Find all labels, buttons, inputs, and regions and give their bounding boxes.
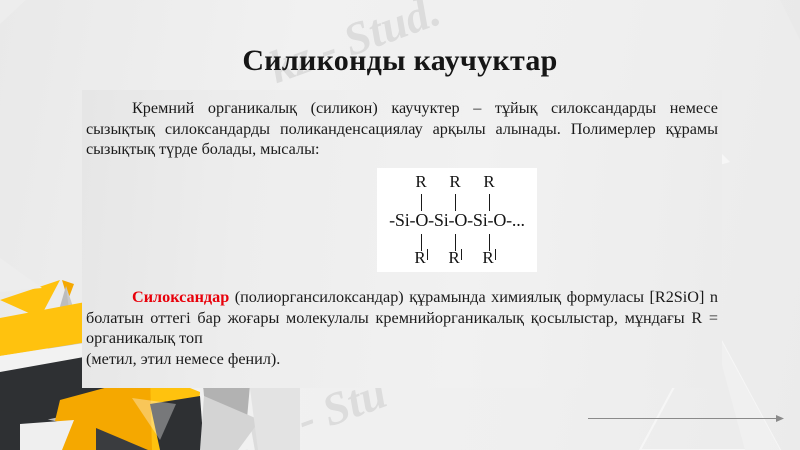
formula-bottom-r-1: R — [404, 248, 438, 267]
formula-top-substituents: R R R — [377, 172, 537, 191]
keyword-siloxanes: Силоксандар — [132, 288, 229, 306]
page-title: Силиконды каучуктар — [0, 44, 800, 78]
paragraph-intro: Кремний органикалық (силикон) каучуктер … — [86, 98, 718, 160]
chemical-formula-box: R R R -Si-O-Si-O-Si-O-... R R R — [377, 168, 537, 272]
formula-backbone-chain: -Si-O-Si-O-Si-O-... — [377, 210, 537, 231]
formula-top-r-3: R — [472, 172, 506, 191]
formula-bottom-r-2: R — [438, 248, 472, 267]
formula-top-bonds — [377, 194, 537, 211]
slide-canvas: kz - Stud. Stud.kz - Stud Stud.kz - Stu — [0, 0, 800, 450]
bond-icon — [472, 194, 506, 211]
bond-icon — [404, 194, 438, 211]
formula-top-r-1: R — [404, 172, 438, 191]
paragraph-intro-text: Кремний органикалық (силикон) каучуктер … — [86, 99, 718, 158]
formula-top-r-2: R — [438, 172, 472, 191]
formula-bottom-substituents: R R R — [377, 248, 537, 267]
bottom-arrow-icon — [588, 410, 784, 419]
bond-icon — [438, 194, 472, 211]
formula-bottom-r-3: R — [472, 248, 506, 267]
paragraph-definition: Силоксандар (полиоргансилоксандар) құрам… — [86, 287, 718, 369]
paragraph-definition-last-line: (метил, этил немесе фенил). — [86, 349, 718, 370]
